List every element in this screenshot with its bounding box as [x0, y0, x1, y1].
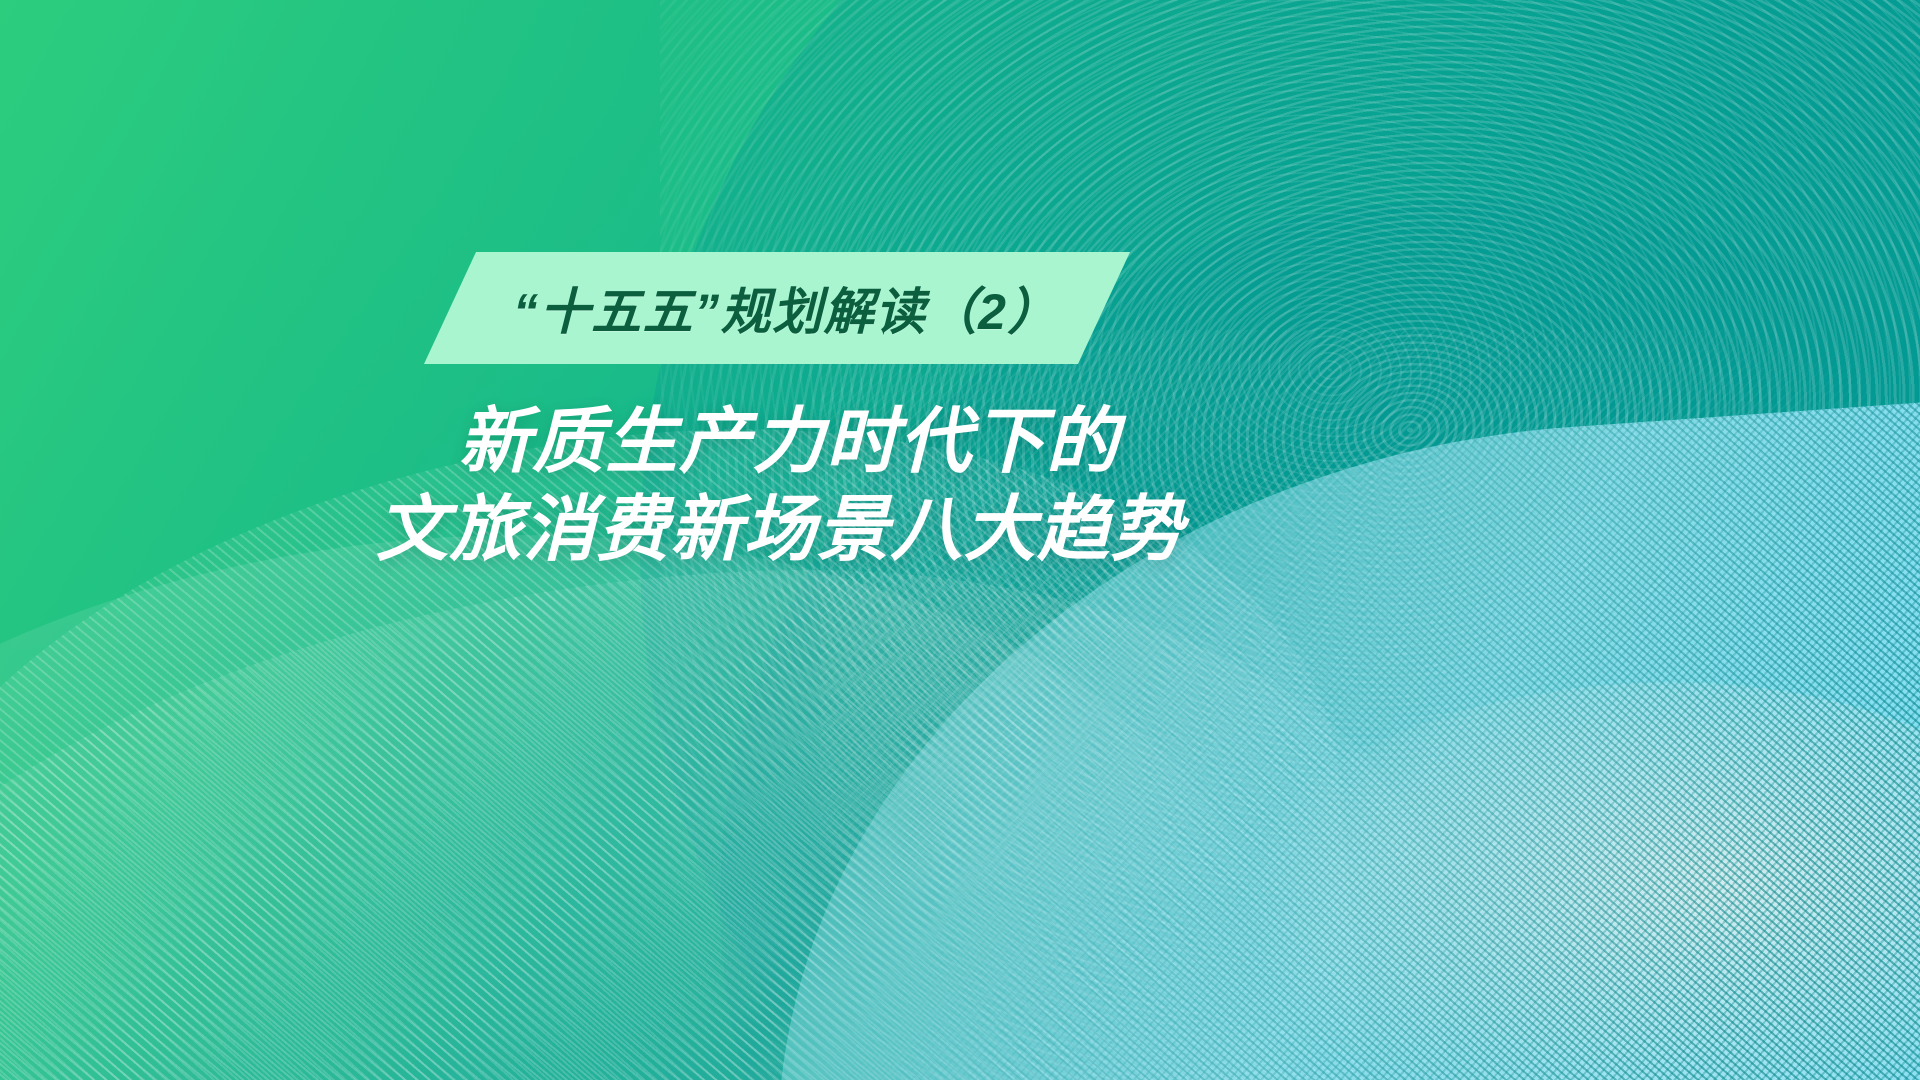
headline-line-2: 文旅消费新场景八大趋势	[0, 486, 1560, 574]
poster-headline: 新质生产力时代下的 文旅消费新场景八大趋势	[0, 398, 1560, 574]
poster-canvas: “十五五”规划解读（2） 新质生产力时代下的 文旅消费新场景八大趋势	[0, 0, 1920, 1080]
ribbon-banner: “十五五”规划解读（2）	[424, 252, 1130, 364]
poster-content: “十五五”规划解读（2） 新质生产力时代下的 文旅消费新场景八大趋势	[0, 0, 1920, 1080]
headline-line-1: 新质生产力时代下的	[0, 398, 1560, 486]
ribbon-label: “十五五”规划解读（2）	[424, 252, 1130, 364]
